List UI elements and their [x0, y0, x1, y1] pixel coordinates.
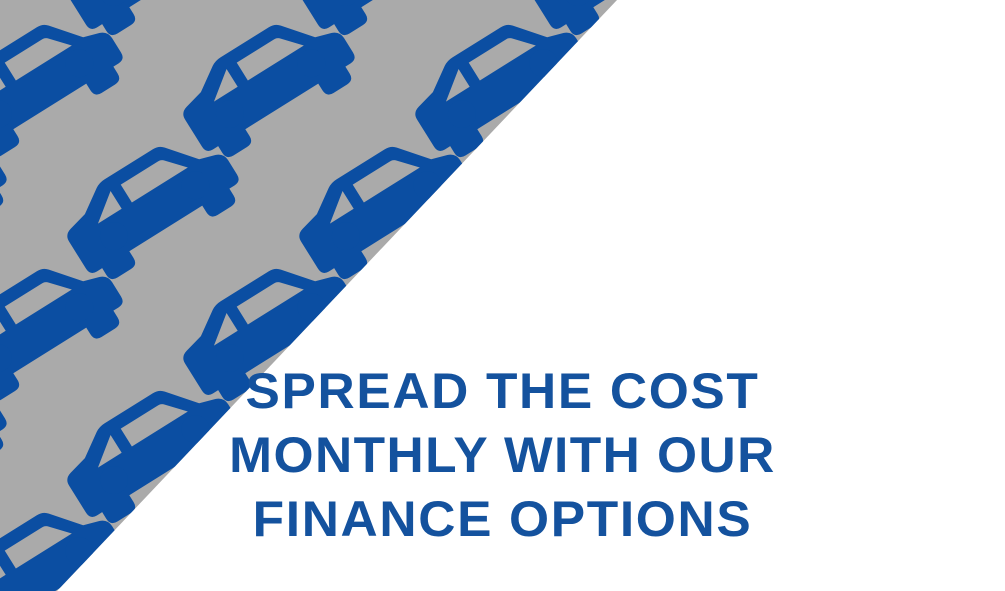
car-pattern-svg — [0, 0, 1005, 591]
car-pattern-panel — [0, 0, 1005, 591]
headline-line-3: FINANCE OPTIONS — [0, 494, 1005, 544]
finance-banner: SPREAD THE COST MONTHLY WITH OUR FINANCE… — [0, 0, 1005, 591]
